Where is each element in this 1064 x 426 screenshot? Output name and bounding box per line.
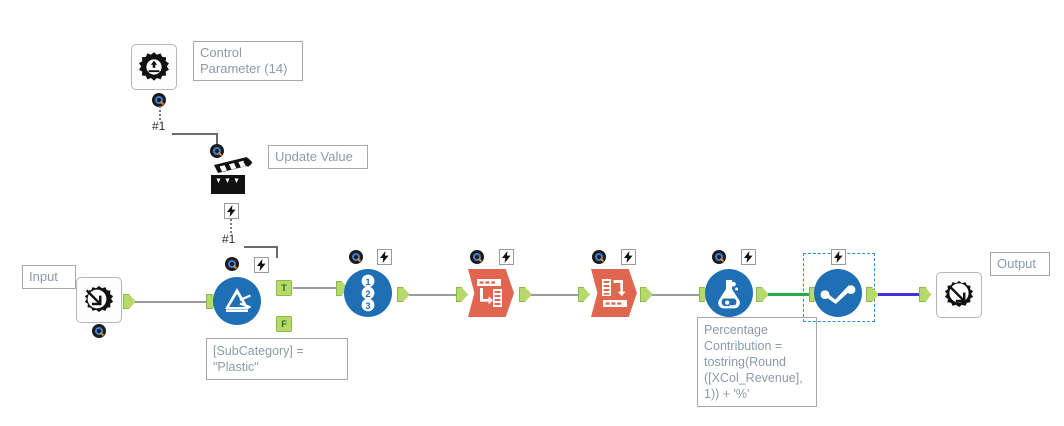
magnifier-q-icon	[92, 324, 106, 338]
svg-text:2: 2	[365, 289, 370, 299]
magnifier-q-icon	[349, 250, 363, 264]
lightning-bolt-icon	[254, 257, 269, 273]
control-parameter-tool[interactable]	[131, 44, 177, 90]
control-parameter-label: Control Parameter (14)	[193, 41, 303, 81]
wire-crosstab-to-transpose	[531, 294, 579, 296]
numbered-rows-icon: 1 2 3	[350, 274, 386, 312]
transpose-input-anchor[interactable]	[578, 287, 590, 302]
wire-browse-to-output	[878, 293, 922, 296]
magnifier-q-icon	[225, 257, 239, 271]
formula-annotation: Percentage Contribution = tostring(Round…	[697, 317, 817, 407]
magnifier-q-icon	[712, 250, 726, 264]
lightning-bolt-icon	[831, 249, 846, 265]
formula-tool[interactable]	[705, 269, 753, 317]
clapperboard-icon	[205, 151, 255, 199]
update-value-label: Update Value	[268, 145, 368, 169]
transpose-tool[interactable]	[591, 269, 637, 317]
lightning-bolt-icon	[224, 203, 239, 219]
connection-label-action: #1	[222, 232, 235, 246]
action-drop-line	[230, 219, 232, 233]
wire-param-to-action	[172, 133, 218, 135]
browse-chart-icon	[820, 282, 856, 304]
flask-icon	[712, 276, 746, 310]
workflow-canvas[interactable]: Control Parameter (14) #1 Update Value #…	[0, 0, 1064, 426]
macro-output-tool[interactable]	[936, 272, 982, 318]
macro-output-input-anchor[interactable]	[919, 287, 931, 302]
param-drop-line	[159, 106, 161, 120]
magnifier-q-icon	[592, 250, 606, 264]
lightning-bolt-icon	[741, 249, 756, 265]
connection-label-param: #1	[152, 119, 165, 133]
svg-text:1: 1	[365, 277, 370, 287]
filter-true-anchor[interactable]: T	[276, 280, 292, 296]
funnel-icon	[220, 284, 254, 318]
gear-arrow-out-icon	[942, 278, 976, 312]
lightning-bolt-icon	[621, 249, 636, 265]
wire-action-to-filter	[244, 246, 278, 248]
filter-annotation: [SubCategory] = "Plastic"	[206, 338, 348, 380]
gear-recycle-icon	[137, 50, 171, 84]
action-update-value-tool[interactable]	[205, 150, 255, 200]
lightning-bolt-icon	[377, 249, 392, 265]
macro-input-tool[interactable]	[76, 277, 122, 323]
output-label: Output	[990, 252, 1050, 276]
wire-select-to-crosstab	[409, 294, 457, 296]
magnifier-q-icon	[152, 93, 166, 107]
wire-transpose-to-formula	[652, 294, 700, 296]
filter-tool[interactable]	[213, 277, 261, 325]
wire-action-to-filter-drop	[276, 246, 278, 258]
transpose-icon	[598, 276, 630, 310]
wire-input-to-filter	[135, 301, 208, 303]
wire-filter-to-select	[293, 287, 339, 289]
cross-tab-tool[interactable]	[468, 269, 514, 317]
browse-tool[interactable]	[814, 269, 862, 317]
magnifier-q-icon	[470, 250, 484, 264]
input-label: Input	[22, 265, 76, 289]
lightning-bolt-icon	[499, 249, 514, 265]
filter-false-anchor[interactable]: F	[276, 316, 292, 332]
svg-text:3: 3	[365, 301, 370, 311]
crosstab-icon	[475, 276, 507, 310]
crosstab-input-anchor[interactable]	[456, 287, 468, 302]
select-tool[interactable]: 1 2 3	[344, 269, 392, 317]
gear-arrow-in-icon	[82, 283, 116, 317]
